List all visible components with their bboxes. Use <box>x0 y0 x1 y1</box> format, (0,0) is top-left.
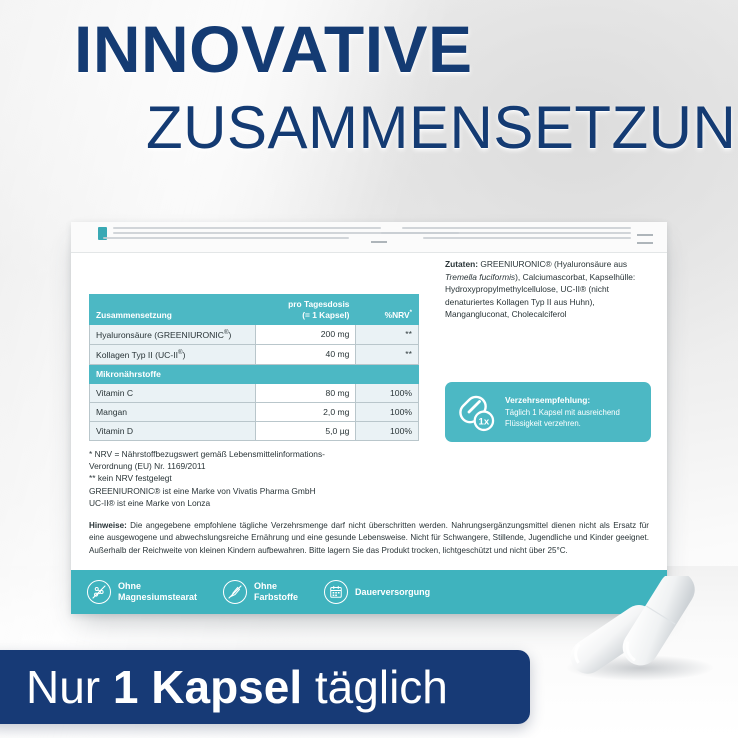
table-row: Hyaluronsäure (GREENIURONIC®) 200 mg ** <box>90 325 419 345</box>
capsule-icon: 1x <box>455 391 497 433</box>
row-name: Vitamin C <box>90 383 256 402</box>
table-footnotes: * NRV = Nährstoffbezugswert gemäß Lebens… <box>89 448 441 509</box>
row-amount: 40 mg <box>255 344 356 364</box>
product-advertisement-image: INNOVATIVE ZUSAMMENSETZUNG <box>0 0 738 738</box>
notes-label: Hinweise: <box>89 521 127 530</box>
nutrition-table-header-row: Zusammensetzung pro Tagesdosis (= 1 Kaps… <box>90 295 419 325</box>
banner-strong: 1 Kapsel <box>113 661 302 713</box>
ingredients-species-name: Tremella fuciformis <box>445 272 515 282</box>
feature-no-colorants: Ohne Farbstoffe <box>223 580 298 604</box>
headline-line-1: INNOVATIVE <box>0 16 738 82</box>
header-per-daily-dose-line2: (= 1 Kapsel) <box>302 310 349 320</box>
feature-no-magnesium-stearate: Ohne Magnesiumstearat <box>87 580 197 604</box>
table-row: Mangan 2,0 mg 100% <box>90 402 419 421</box>
table-row: Kollagen Typ II (UC-II®) 40 mg ** <box>90 344 419 364</box>
no-colorants-icon <box>223 580 247 604</box>
row-amount: 5,0 µg <box>255 421 356 440</box>
table-row: Vitamin C 80 mg 100% <box>90 383 419 402</box>
table-subheader-row: Mikronährstoffe <box>90 364 419 383</box>
ingredients-label: Zutaten: <box>445 259 478 269</box>
footnote-ucii-trademark: UC-II® ist eine Marke von Lonza <box>89 497 441 509</box>
row-name: Mangan <box>90 402 256 421</box>
capsule-count-badge: 1x <box>479 416 490 427</box>
row-name: Kollagen Typ II (UC-II®) <box>90 344 256 364</box>
recommendation-title: Verzehrsempfehlung: <box>505 395 641 406</box>
nutrition-table: Zusammensetzung pro Tagesdosis (= 1 Kaps… <box>89 294 419 441</box>
header-nrv: %NRV* <box>356 295 419 325</box>
package-dash-1 <box>371 241 387 243</box>
row-amount: 80 mg <box>255 383 356 402</box>
ingredients-block: Zutaten: GREENIURONIC® (Hyaluronsäure au… <box>445 258 651 321</box>
package-lid-strip <box>71 222 667 253</box>
banner-text: Nur 1 Kapsel täglich <box>0 664 448 710</box>
row-nrv: ** <box>356 325 419 345</box>
row-name: Vitamin D <box>90 421 256 440</box>
feature-label: Ohne Farbstoffe <box>254 581 298 603</box>
row-nrv: 100% <box>356 421 419 440</box>
package-dash-2 <box>637 234 653 236</box>
package-dash-3 <box>637 242 653 244</box>
row-nrv: ** <box>356 344 419 364</box>
header-per-daily-dose: pro Tagesdosis (= 1 Kapsel) <box>255 295 356 325</box>
row-amount: 200 mg <box>255 325 356 345</box>
table-row: Vitamin D 5,0 µg 100% <box>90 421 419 440</box>
headline-block: INNOVATIVE ZUSAMMENSETZUNG <box>0 16 738 158</box>
banner-prefix: Nur <box>26 661 113 713</box>
header-per-daily-dose-line1: pro Tagesdosis <box>288 299 349 309</box>
row-name: Hyaluronsäure (GREENIURONIC®) <box>90 325 256 345</box>
notes-block: Hinweise: Die angegebene empfohlene tägl… <box>89 520 649 557</box>
header-composition: Zusammensetzung <box>90 295 256 325</box>
row-nrv: 100% <box>356 402 419 421</box>
recommendation-body: Täglich 1 Kapsel mit ausreichend Flüssig… <box>505 408 641 429</box>
product-package: Zusammensetzung pro Tagesdosis (= 1 Kaps… <box>71 222 667 614</box>
footnote-greeniuronic-trademark: GREENIURONIC® ist eine Marke von Vivatis… <box>89 485 441 497</box>
loose-capsules <box>556 576 738 686</box>
ingredients-text-before: GREENIURONIC® (Hyaluronsäure aus <box>478 259 627 269</box>
feature-label: Dauerversorgung <box>355 587 430 598</box>
nutrition-table-body: Hyaluronsäure (GREENIURONIC®) 200 mg ** … <box>90 325 419 441</box>
subheader-micronutrients: Mikronährstoffe <box>90 364 419 383</box>
footnote-no-nrv: ** kein NRV festgelegt <box>89 472 441 484</box>
calendar-icon <box>324 580 348 604</box>
notes-text: Die angegebene empfohlene tägliche Verze… <box>89 521 649 555</box>
row-nrv: 100% <box>356 383 419 402</box>
consumption-recommendation-box: 1x Verzehrsempfehlung: Täglich 1 Kapsel … <box>445 382 651 442</box>
headline-line-2: ZUSAMMENSETZUNG <box>0 98 738 158</box>
feature-continuous-supply: Dauerversorgung <box>324 580 430 604</box>
banner-suffix: täglich <box>302 661 448 713</box>
footnote-nrv-definition: * NRV = Nährstoffbezugswert gemäß Lebens… <box>89 448 441 472</box>
row-amount: 2,0 mg <box>255 402 356 421</box>
recommendation-text-block: Verzehrsempfehlung: Täglich 1 Kapsel mit… <box>505 395 641 429</box>
no-magnesium-stearate-icon <box>87 580 111 604</box>
package-microprint-right <box>371 227 631 242</box>
feature-label: Ohne Magnesiumstearat <box>118 581 197 603</box>
bottom-banner: Nur 1 Kapsel täglich <box>0 650 530 724</box>
